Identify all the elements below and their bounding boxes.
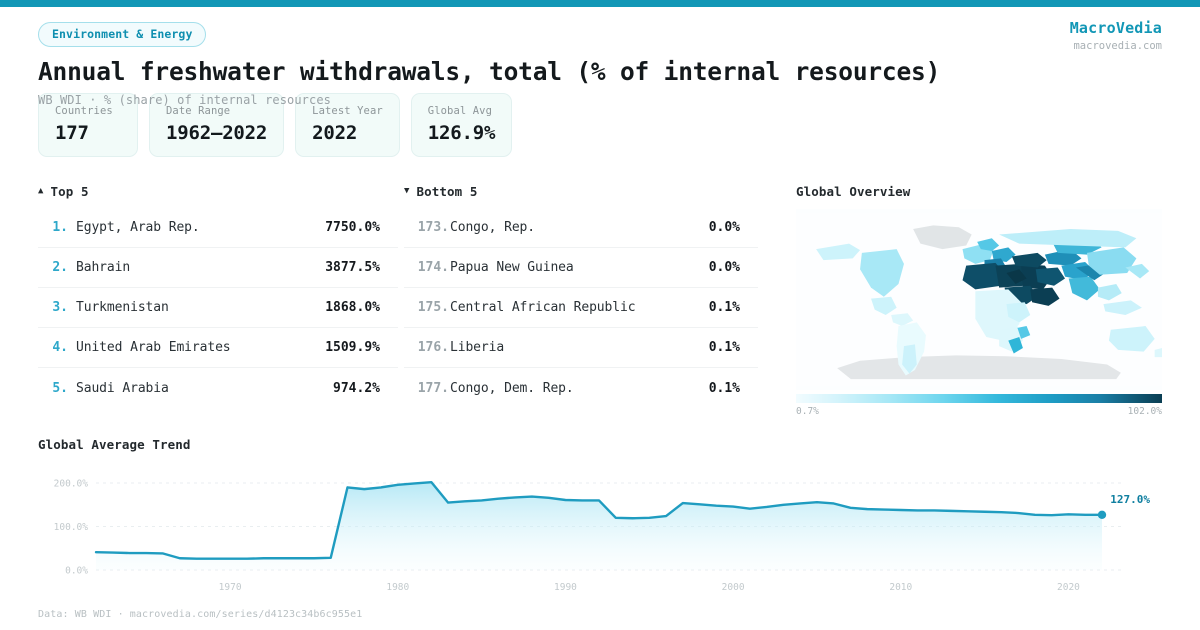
map-legend-gradient — [796, 394, 1162, 403]
trend-chart-panel: Global Average Trend 0.0%100.0%200.0% 12… — [38, 437, 1162, 596]
legend-min-label: 0.7% — [796, 406, 819, 417]
country-name: United Arab Emirates — [76, 340, 325, 355]
country-name: Saudi Arabia — [76, 381, 333, 396]
top5-heading-label: Top 5 — [51, 184, 89, 199]
top5-list: 1. Egypt, Arab Rep. 7750.0% 2. Bahrain 3… — [38, 208, 398, 408]
map-panel: Global Overview — [758, 183, 1162, 415]
page-container: Environment & Energy MacroVedia macroved… — [0, 7, 1200, 630]
x-tick-label: 2020 — [1057, 582, 1080, 593]
trend-chart[interactable]: 0.0%100.0%200.0% 127.0% — [38, 460, 1162, 582]
rank-number: 176. — [404, 340, 450, 355]
svg-text:200.0%: 200.0% — [54, 479, 89, 490]
trend-x-axis: 197019801990200020102020 — [38, 582, 1162, 596]
map-svg — [796, 209, 1162, 390]
country-value: 0.1% — [709, 300, 740, 315]
country-value: 0.1% — [709, 381, 740, 396]
brand-url: macrovedia.com — [1070, 40, 1162, 52]
map-heading: Global Overview — [796, 183, 1162, 199]
x-tick-label: 1970 — [219, 582, 242, 593]
stat-value: 2022 — [312, 122, 383, 144]
trend-heading: Global Average Trend — [38, 437, 1162, 452]
list-item[interactable]: 5. Saudi Arabia 974.2% — [38, 368, 398, 408]
list-item[interactable]: 1. Egypt, Arab Rep. 7750.0% — [38, 208, 398, 248]
country-value: 0.1% — [709, 340, 740, 355]
country-value: 7750.0% — [325, 220, 380, 235]
country-name: Papua New Guinea — [450, 260, 709, 275]
bottom5-panel: ▼ Bottom 5 173. Congo, Rep. 0.0% 174. Pa… — [398, 183, 758, 415]
top-accent-bar — [0, 0, 1200, 7]
country-name: Turkmenistan — [76, 300, 325, 315]
country-name: Bahrain — [76, 260, 325, 275]
country-value: 0.0% — [709, 260, 740, 275]
header: Environment & Energy MacroVedia macroved… — [38, 7, 1162, 79]
country-name: Liberia — [450, 340, 709, 355]
country-name: Congo, Dem. Rep. — [450, 381, 709, 396]
country-name: Congo, Rep. — [450, 220, 709, 235]
country-value: 974.2% — [333, 381, 380, 396]
list-item[interactable]: 174. Papua New Guinea 0.0% — [404, 248, 758, 288]
list-item[interactable]: 173. Congo, Rep. 0.0% — [404, 208, 758, 248]
svg-text:127.0%: 127.0% — [1110, 493, 1150, 506]
world-choropleth-map[interactable] — [796, 209, 1162, 390]
top5-heading: ▲ Top 5 — [38, 183, 398, 199]
x-tick-label: 2000 — [722, 582, 745, 593]
list-item[interactable]: 176. Liberia 0.1% — [404, 328, 758, 368]
list-item[interactable]: 177. Congo, Dem. Rep. 0.1% — [404, 368, 758, 408]
svg-text:0.0%: 0.0% — [65, 566, 88, 577]
bottom5-heading: ▼ Bottom 5 — [404, 183, 758, 199]
rank-number: 1. — [38, 220, 76, 235]
x-tick-label: 1990 — [554, 582, 577, 593]
category-badge[interactable]: Environment & Energy — [38, 22, 206, 47]
top5-panel: ▲ Top 5 1. Egypt, Arab Rep. 7750.0% 2. B… — [38, 183, 398, 415]
country-value: 3877.5% — [325, 260, 380, 275]
svg-text:100.0%: 100.0% — [54, 522, 89, 533]
rank-number: 4. — [38, 340, 76, 355]
stat-value: 177 — [55, 122, 121, 144]
bottom5-list: 173. Congo, Rep. 0.0% 174. Papua New Gui… — [404, 208, 758, 408]
list-item[interactable]: 3. Turkmenistan 1868.0% — [38, 288, 398, 328]
rank-number: 173. — [404, 220, 450, 235]
stat-value: 1962–2022 — [166, 122, 267, 144]
list-item[interactable]: 2. Bahrain 3877.5% — [38, 248, 398, 288]
rank-number: 175. — [404, 300, 450, 315]
bottom5-heading-label: Bottom 5 — [417, 184, 478, 199]
brand-name: MacroVedia — [1070, 19, 1162, 37]
footer-source: Data: WB WDI · macrovedia.com/series/d41… — [38, 609, 362, 620]
page-title: Annual freshwater withdrawals, total (% … — [38, 57, 1162, 86]
rank-number: 174. — [404, 260, 450, 275]
rank-number: 177. — [404, 381, 450, 396]
country-name: Egypt, Arab Rep. — [76, 220, 325, 235]
triangle-up-icon: ▲ — [38, 187, 44, 196]
map-legend-labels: 0.7% 102.0% — [796, 406, 1162, 417]
list-item[interactable]: 4. United Arab Emirates 1509.9% — [38, 328, 398, 368]
rank-number: 5. — [38, 381, 76, 396]
country-value: 1509.9% — [325, 340, 380, 355]
trend-chart-svg: 0.0%100.0%200.0% 127.0% — [38, 460, 1162, 582]
map-heading-label: Global Overview — [796, 184, 910, 199]
list-item[interactable]: 175. Central African Republic 0.1% — [404, 288, 758, 328]
page-subtitle: WB WDI · % (share) of internal resources — [38, 93, 1162, 107]
stat-value: 126.9% — [428, 122, 495, 144]
country-name: Central African Republic — [450, 300, 709, 315]
country-value: 0.0% — [709, 220, 740, 235]
triangle-down-icon: ▼ — [404, 187, 410, 196]
x-tick-label: 1980 — [386, 582, 409, 593]
country-value: 1868.0% — [325, 300, 380, 315]
legend-max-label: 102.0% — [1128, 406, 1162, 417]
x-tick-label: 2010 — [889, 582, 912, 593]
middle-section: ▲ Top 5 1. Egypt, Arab Rep. 7750.0% 2. B… — [38, 183, 1162, 415]
brand: MacroVedia macrovedia.com — [1070, 19, 1162, 52]
rank-number: 2. — [38, 260, 76, 275]
rank-number: 3. — [38, 300, 76, 315]
